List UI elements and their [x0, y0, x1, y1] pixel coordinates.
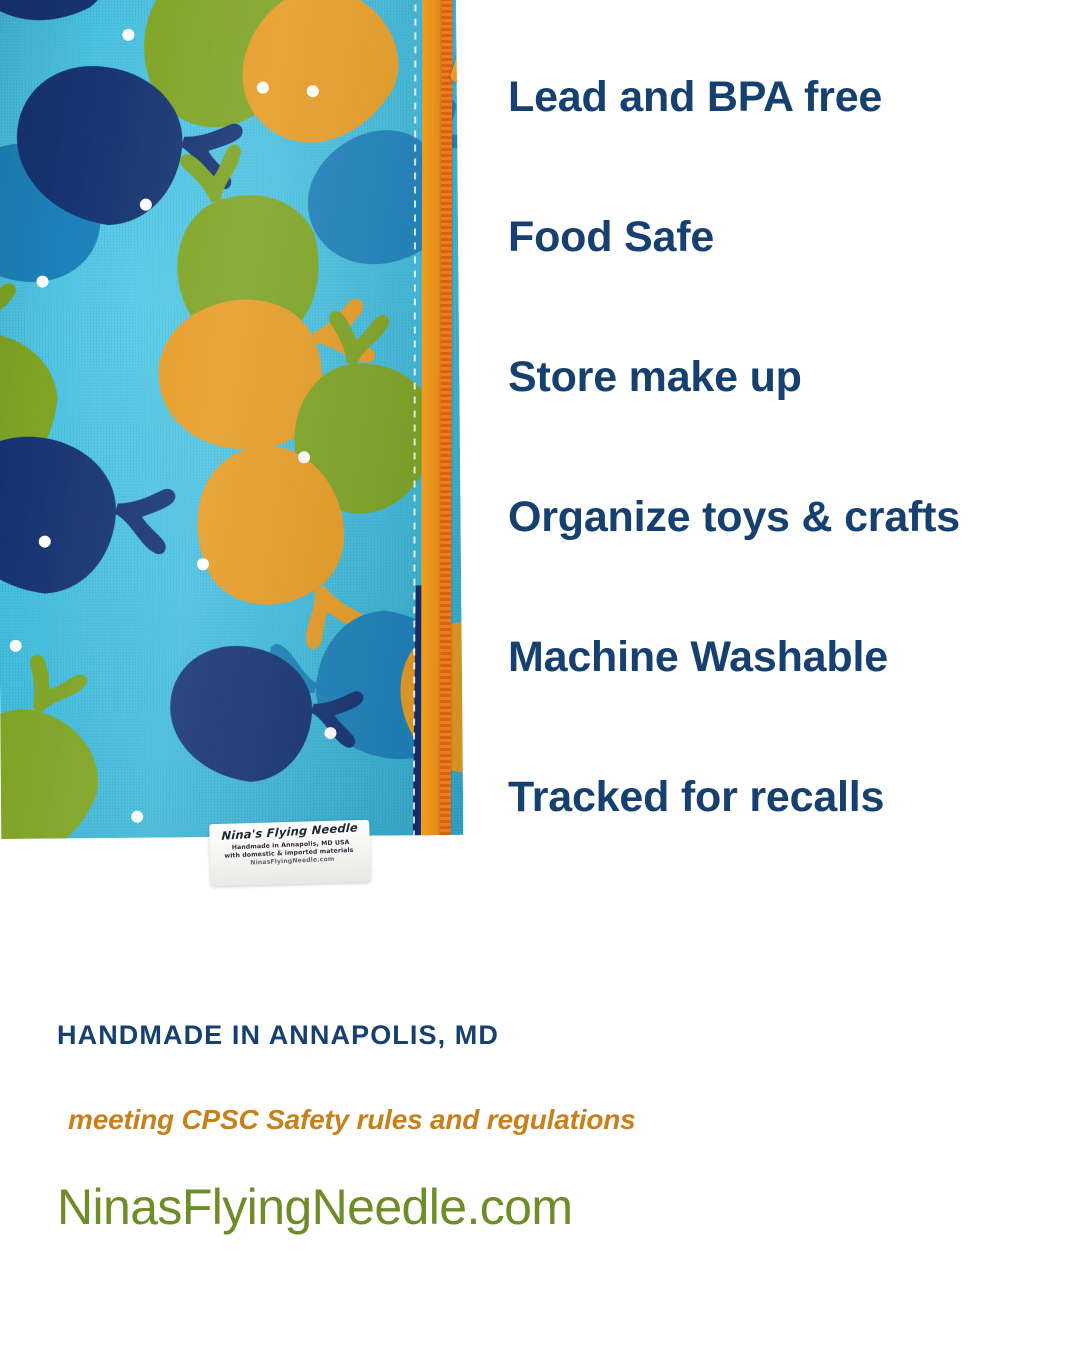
zipper-assembly: [396, 0, 463, 835]
handmade-location-text: HANDMADE IN ANNAPOLIS, MD: [57, 1020, 499, 1051]
whale-print-fabric: [0, 0, 463, 839]
zipper-teeth: [440, 0, 452, 838]
feature-item-tracked-for-recalls: Tracked for recalls: [508, 776, 1068, 916]
care-label: Nina's Flying Needle Handmade in Annapol…: [209, 820, 371, 886]
whale-pattern-svg: [0, 0, 463, 839]
feature-item-store-make-up: Store make up: [508, 356, 1068, 496]
feature-list: Lead and BPA free Food Safe Store make u…: [508, 76, 1068, 916]
product-photo: Nina's Flying Needle Handmade in Annapol…: [0, 0, 470, 900]
feature-item-lead-bpa-free: Lead and BPA free: [508, 76, 1068, 216]
zipper-pouch: [0, 0, 463, 839]
care-label-details: Handmade in Annapolis, MD USA with domes…: [218, 838, 365, 868]
cpsc-compliance-text: meeting CPSC Safety rules and regulation…: [68, 1104, 636, 1136]
feature-item-organize-toys-crafts: Organize toys & crafts: [508, 496, 1068, 636]
feature-item-food-safe: Food Safe: [508, 216, 1068, 356]
marketing-graphic: Nina's Flying Needle Handmade in Annapol…: [0, 0, 1080, 1350]
feature-item-machine-washable: Machine Washable: [508, 636, 1068, 776]
website-url[interactable]: NinasFlyingNeedle.com: [57, 1178, 572, 1236]
